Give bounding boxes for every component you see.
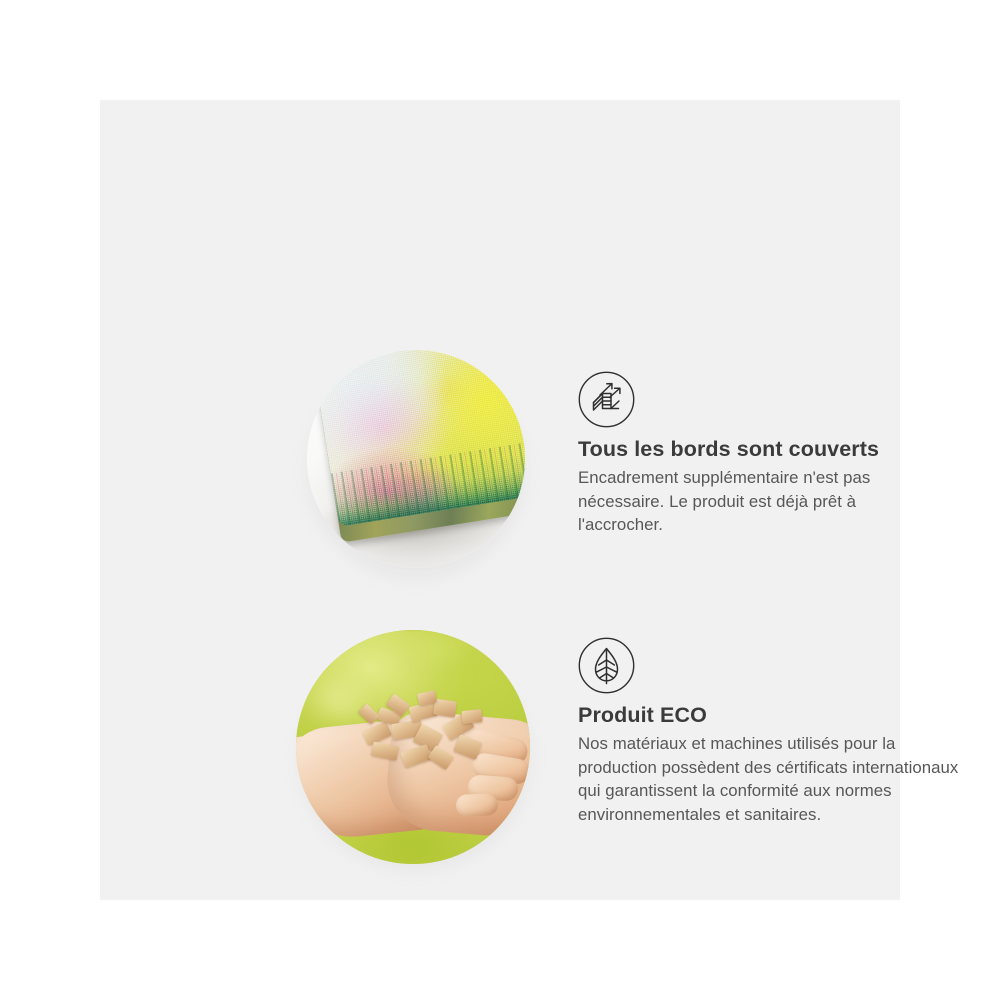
wood-chips-pile [358,692,498,784]
canvas-light-sheen [313,350,525,527]
canvas-printed-face [313,350,525,527]
feature-panel: Coin d'une impression sur toile aux coul… [100,100,900,900]
feature-title: Tous les bords sont couverts [578,436,978,462]
canvas-print-corner-photo: Coin d'une impression sur toile aux coul… [307,350,525,568]
leaf-icon [578,637,635,694]
feature-text-eco-product: Produit ECO Nos matériaux et machines ut… [578,702,978,826]
page-root: Coin d'une impression sur toile aux coul… [0,0,1000,1000]
canvas-wrapped-edges-icon [578,371,635,428]
hands-holding-wood-chips-photo: Mains tenant des copeaux de bois sur fon… [296,630,530,864]
feature-body: Nos matériaux et machines utilisés pour … [578,732,973,826]
finger [456,793,499,816]
canvas-block [309,350,525,555]
feature-body: Encadrement supplémentaire n'est pas néc… [578,466,923,537]
feature-title: Produit ECO [578,702,978,728]
feature-text-all-edges-covered: Tous les bords sont couverts Encadrement… [578,436,978,537]
